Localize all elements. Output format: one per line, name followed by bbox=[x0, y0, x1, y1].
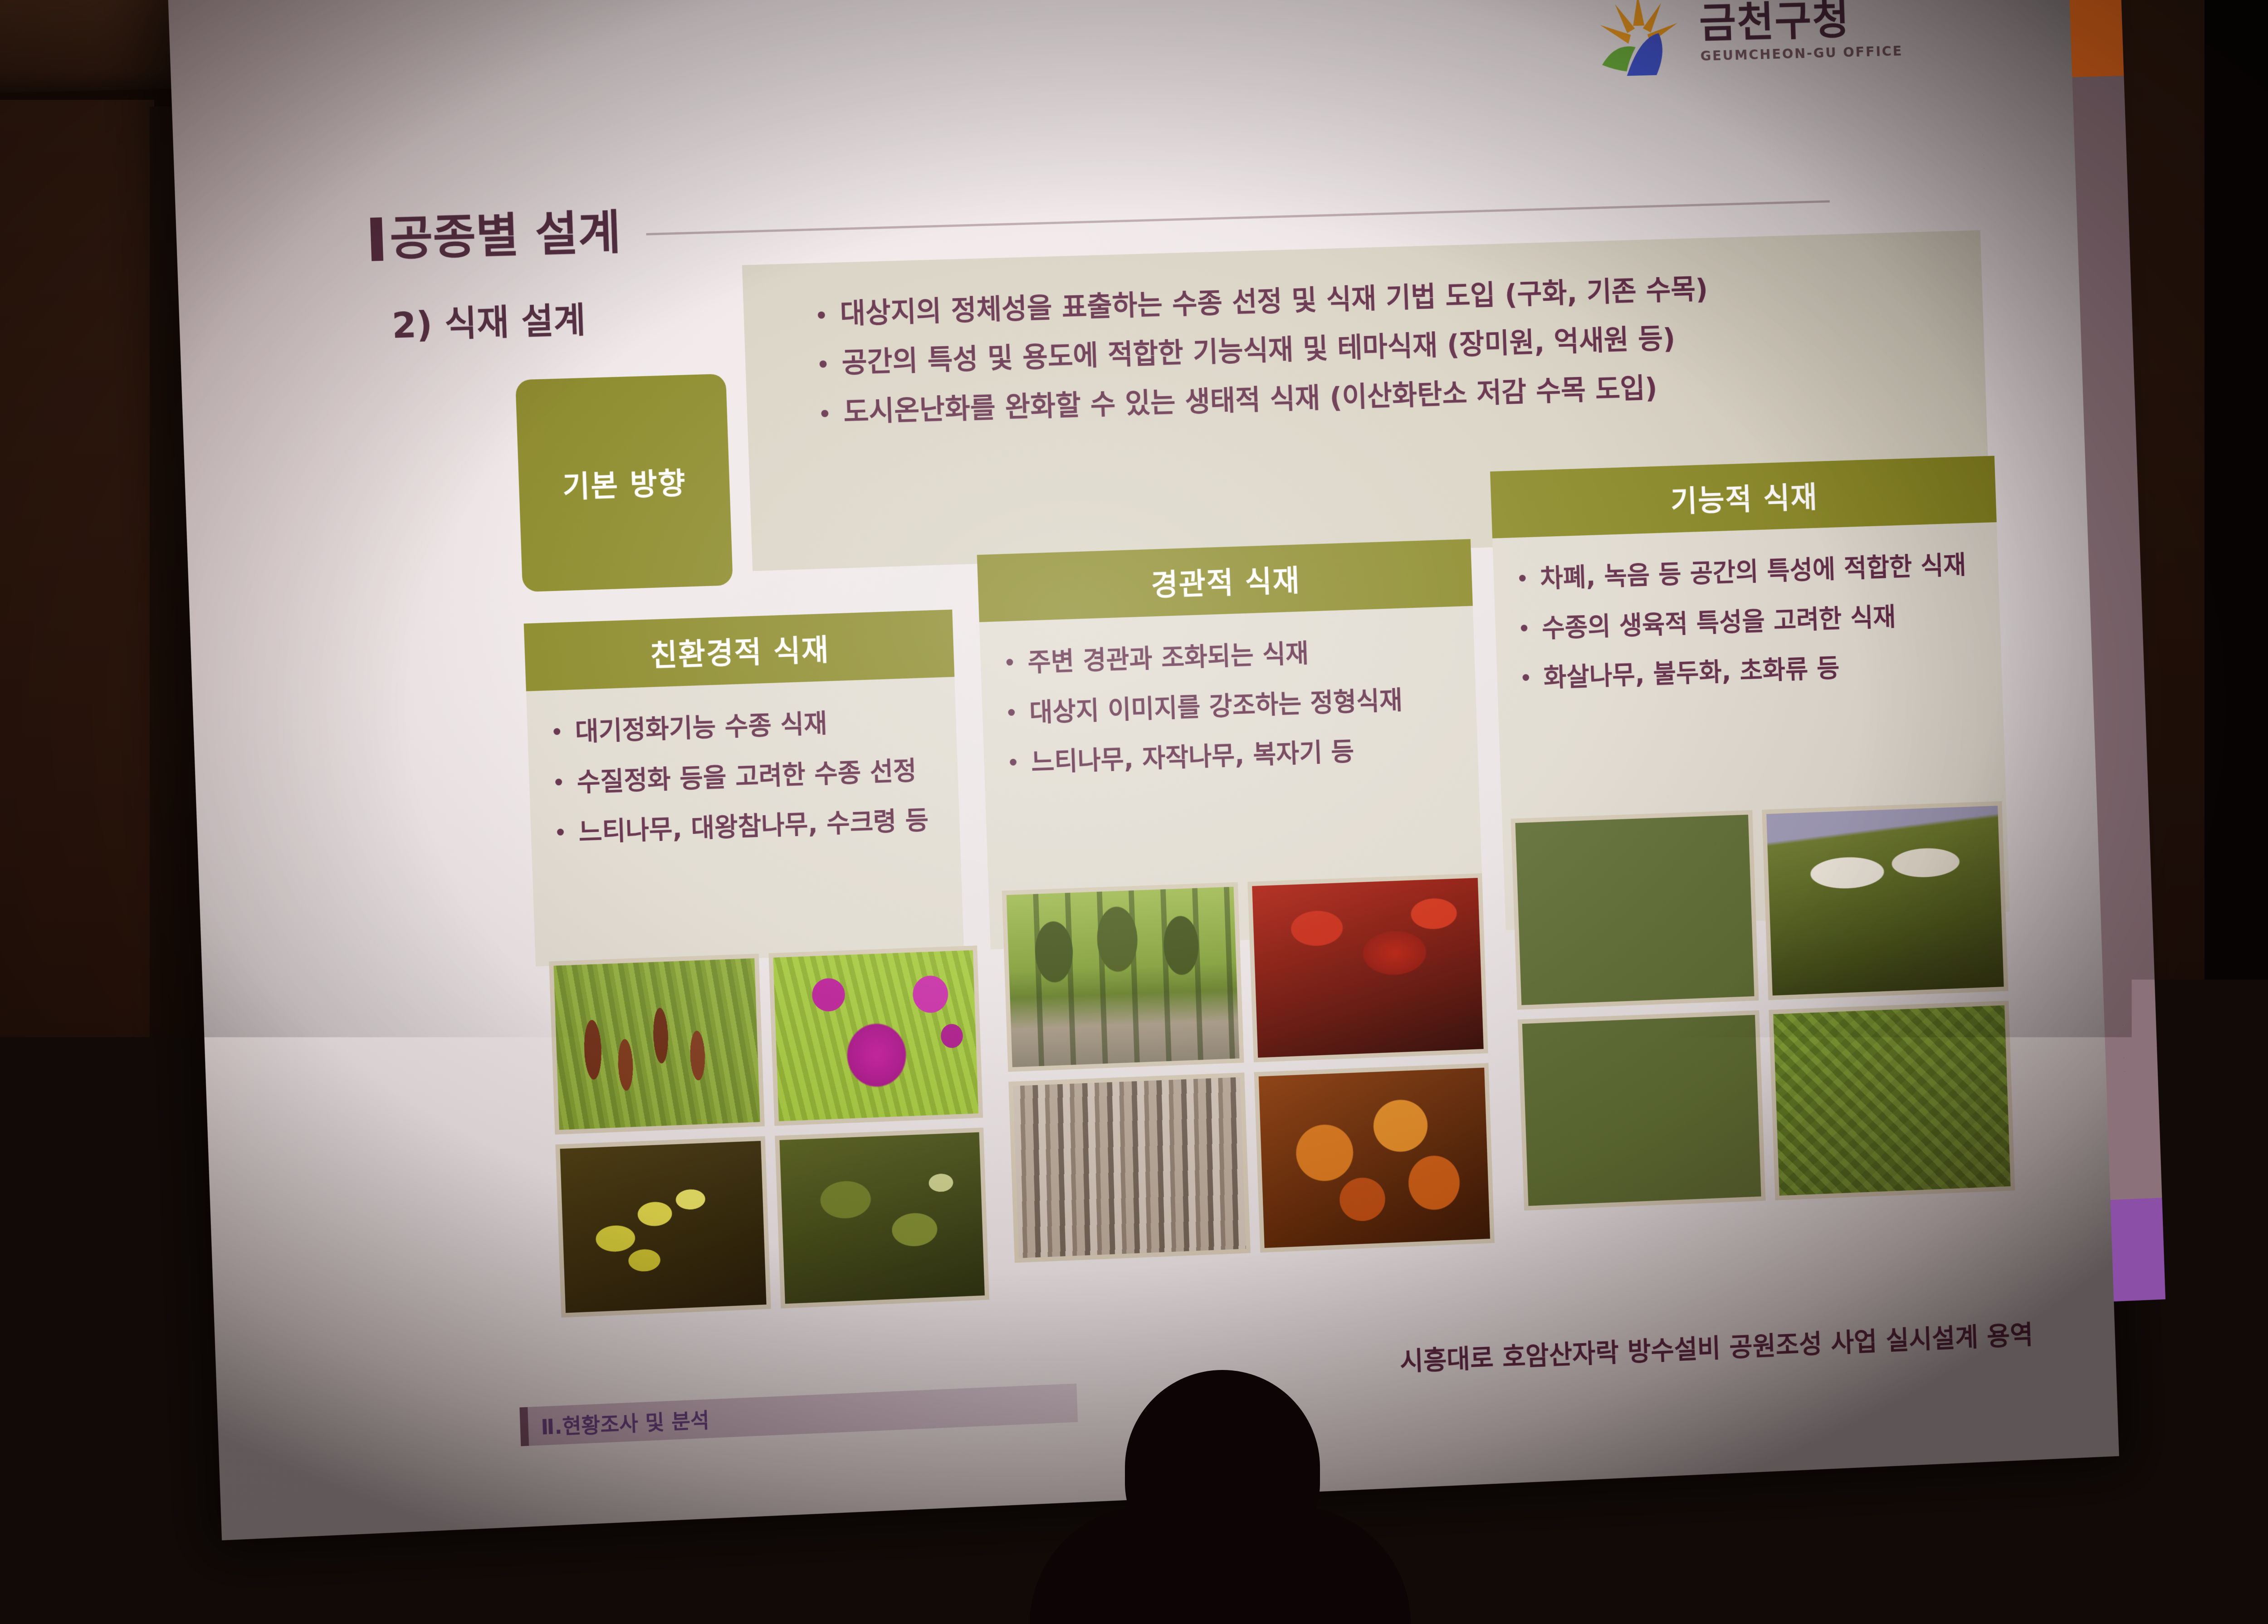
wall-panel bbox=[0, 100, 154, 1597]
presentation-slide: 금천구청 GEUMCHEON-GU OFFICE 공종별 설계 2) 식재 설계 bbox=[168, 0, 2119, 1541]
footer-section-label: Ⅱ.현황조사 및 분석 bbox=[540, 1404, 709, 1441]
category-card-header: 경관적 식재 bbox=[977, 539, 1473, 622]
white-blossom-photo bbox=[1762, 801, 2008, 1000]
category-cards: 친환경적 식재 대기정화기능 수종 식재 수질정화 등을 고려한 수종 선정 느… bbox=[168, 0, 2119, 1541]
category-heading: 경관적 식재 bbox=[1150, 557, 1301, 604]
list-item: 주변 경관과 조화되는 식재 bbox=[1000, 633, 1461, 680]
green-leaf-blossom-photo bbox=[1518, 1010, 1766, 1210]
footer-accent-tick bbox=[519, 1407, 529, 1446]
list-item: 차폐, 녹음 등 공간의 특성에 적합한 식재 bbox=[1513, 549, 1986, 596]
purple-iris-photo bbox=[768, 945, 983, 1126]
projection-screen-area: 금천구청 GEUMCHEON-GU OFFICE 공종별 설계 2) 식재 설계 bbox=[168, 0, 2177, 1579]
autumn-leaves-photo bbox=[1254, 1063, 1495, 1252]
red-maple-photo bbox=[1247, 873, 1488, 1062]
audience-head-silhouette bbox=[1012, 1370, 1411, 1570]
wall-shadow bbox=[2204, 0, 2268, 1568]
silhouette-shoulders bbox=[1030, 1506, 1411, 1624]
cattail-reeds-photo bbox=[549, 954, 765, 1135]
rail-segment-purple bbox=[2111, 1198, 2165, 1301]
list-item: 수질정화 등을 고려한 수종 선정 bbox=[548, 754, 945, 799]
list-item: 대기정화기능 수종 식재 bbox=[547, 704, 943, 749]
list-item: 화살나무, 불두화, 초화류 등 bbox=[1516, 648, 1989, 695]
hedge-shrub-photo bbox=[1769, 1001, 2015, 1200]
photo-grid-eco bbox=[549, 945, 989, 1317]
projection-screen: 금천구청 GEUMCHEON-GU OFFICE 공종별 설계 2) 식재 설계 bbox=[168, 0, 2119, 1541]
list-item: 느티나무, 대왕참나무, 수크령 등 bbox=[550, 804, 947, 850]
category-bullet-list: 차폐, 녹음 등 공간의 특성에 적합한 식재 수종의 생육적 특성을 고려한 … bbox=[1513, 549, 1990, 714]
category-card-eco: 친환경적 식재 대기정화기능 수종 식재 수질정화 등을 고려한 수종 선정 느… bbox=[524, 610, 964, 967]
birch-forest-photo bbox=[1008, 1072, 1251, 1262]
list-item: 수종의 생육적 특성을 고려한 식재 bbox=[1514, 598, 1987, 645]
category-bullet-list: 주변 경관과 조화되는 식재 대상지 이미지를 강조하는 정형식재 느티나무, … bbox=[1000, 633, 1466, 799]
rail-segment-orange bbox=[2068, 0, 2124, 77]
category-heading: 친환경적 식재 bbox=[650, 626, 830, 675]
category-heading: 기능적 식재 bbox=[1670, 473, 1818, 520]
list-item: 대상지 이미지를 강조하는 정형식재 bbox=[1002, 683, 1463, 729]
green-foliage-photo bbox=[775, 1128, 989, 1309]
photo-grid-functional bbox=[1511, 801, 2015, 1210]
red-berry-shrub-photo bbox=[1511, 810, 1759, 1010]
category-bullet-list: 대기정화기능 수종 식재 수질정화 등을 고려한 수종 선정 느티나무, 대왕참… bbox=[547, 704, 947, 868]
list-item: 느티나무, 자작나무, 복자기 등 bbox=[1003, 733, 1465, 780]
category-card-header: 기능적 식재 bbox=[1490, 456, 1997, 538]
ginkgo-leaves-photo bbox=[555, 1136, 771, 1318]
category-card-header: 친환경적 식재 bbox=[524, 610, 955, 691]
photo-grid-landscape bbox=[1002, 873, 1495, 1263]
tree-lined-path-photo bbox=[1002, 882, 1244, 1072]
